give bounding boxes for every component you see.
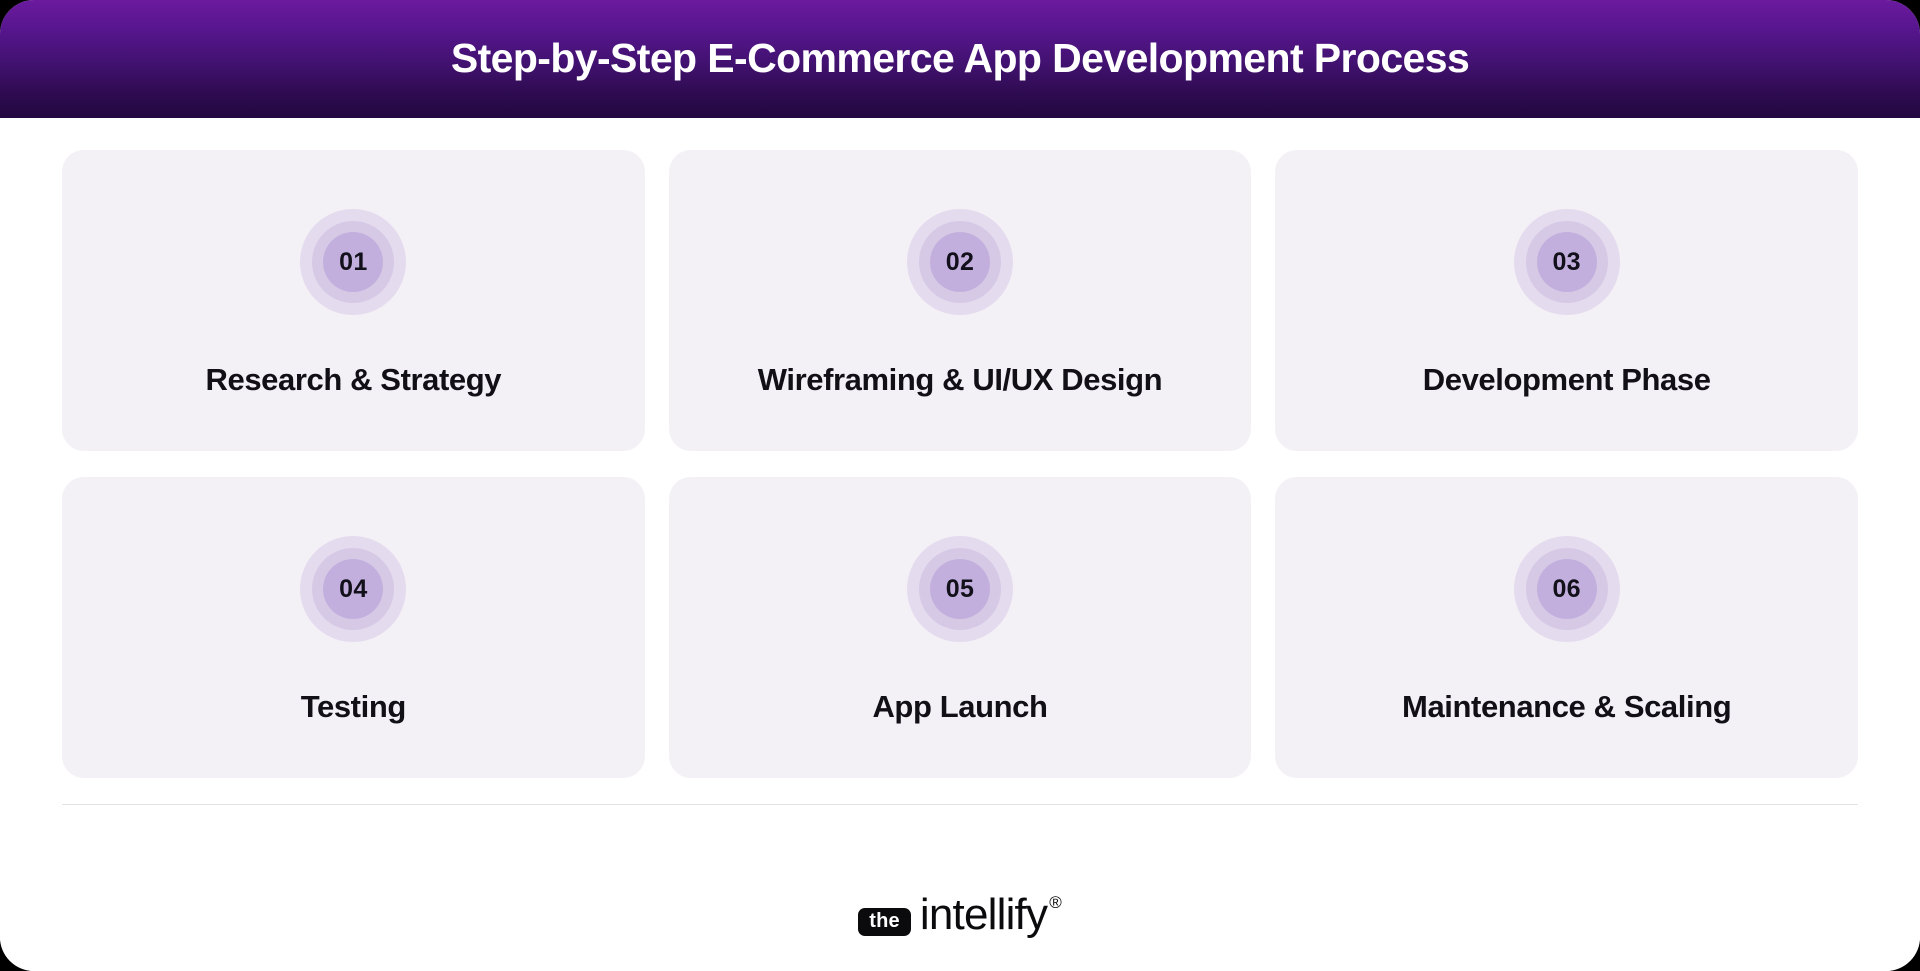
step-card-05[interactable]: 05 App Launch — [669, 477, 1252, 778]
badge-middle-ring: 05 — [919, 548, 1001, 630]
step-title-label: Wireframing & UI/UX Design — [744, 362, 1176, 398]
step-number-label: 06 — [1552, 577, 1580, 602]
page-title: Step-by-Step E-Commerce App Development … — [451, 36, 1469, 81]
badge-middle-ring: 02 — [919, 221, 1001, 303]
step-title-label: Research & Strategy — [192, 362, 516, 398]
step-card-03[interactable]: 03 Development Phase — [1275, 150, 1858, 451]
brand-prefix-badge: the — [858, 908, 911, 936]
step-number-label: 01 — [339, 250, 367, 275]
registered-trademark-icon: ® — [1049, 894, 1062, 911]
step-number-label: 04 — [339, 577, 367, 602]
step-number-badge: 05 — [907, 536, 1013, 642]
brand-name-wrap: intellify ® — [920, 893, 1062, 937]
step-number-label: 05 — [946, 577, 974, 602]
step-card-01[interactable]: 01 Research & Strategy — [62, 150, 645, 451]
badge-inner-circle: 06 — [1537, 559, 1597, 619]
step-title-label: App Launch — [858, 689, 1061, 725]
badge-middle-ring: 04 — [312, 548, 394, 630]
step-number-badge: 03 — [1514, 209, 1620, 315]
step-number-badge: 04 — [300, 536, 406, 642]
step-title-label: Testing — [287, 689, 420, 725]
footer-bar: the intellify ® — [0, 859, 1920, 971]
step-number-badge: 01 — [300, 209, 406, 315]
step-title-label: Maintenance & Scaling — [1388, 689, 1745, 725]
badge-inner-circle: 01 — [323, 232, 383, 292]
main-content: 01 Research & Strategy 02 Wireframing & … — [0, 118, 1920, 859]
step-number-label: 03 — [1552, 250, 1580, 275]
step-number-label: 02 — [946, 250, 974, 275]
badge-inner-circle: 05 — [930, 559, 990, 619]
steps-grid: 01 Research & Strategy 02 Wireframing & … — [62, 150, 1858, 778]
badge-inner-circle: 02 — [930, 232, 990, 292]
step-title-label: Development Phase — [1409, 362, 1725, 398]
step-number-badge: 02 — [907, 209, 1013, 315]
badge-middle-ring: 03 — [1526, 221, 1608, 303]
brand-name-label: intellify — [920, 893, 1047, 937]
badge-middle-ring: 01 — [312, 221, 394, 303]
badge-middle-ring: 06 — [1526, 548, 1608, 630]
step-number-badge: 06 — [1514, 536, 1620, 642]
step-card-06[interactable]: 06 Maintenance & Scaling — [1275, 477, 1858, 778]
step-card-04[interactable]: 04 Testing — [62, 477, 645, 778]
infographic-root: Step-by-Step E-Commerce App Development … — [0, 0, 1920, 971]
badge-inner-circle: 04 — [323, 559, 383, 619]
brand-logo[interactable]: the intellify ® — [858, 893, 1061, 937]
badge-inner-circle: 03 — [1537, 232, 1597, 292]
step-card-02[interactable]: 02 Wireframing & UI/UX Design — [669, 150, 1252, 451]
header-banner: Step-by-Step E-Commerce App Development … — [0, 0, 1920, 118]
footer-divider — [62, 804, 1858, 805]
